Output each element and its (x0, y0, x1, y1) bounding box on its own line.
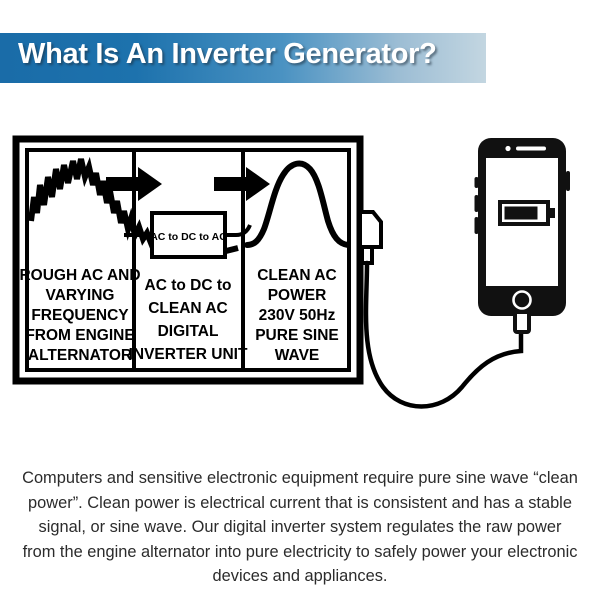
svg-text:230V 50Hz: 230V 50Hz (259, 307, 336, 324)
svg-text:ROUGH AC AND: ROUGH AC AND (19, 267, 140, 284)
svg-text:FREQUENCY: FREQUENCY (31, 307, 129, 324)
panel-2-label: AC to DC to CLEAN AC DIGITAL INVERTER UN… (129, 277, 248, 363)
svg-text:PURE SINE: PURE SINE (255, 327, 339, 344)
svg-text:FROM ENGINE: FROM ENGINE (25, 327, 134, 344)
battery-icon (500, 202, 555, 224)
diagram-svg: AC to DC to AC ROUGH AC AND VARYING FREQ… (0, 125, 600, 425)
cable-connector-icon (515, 312, 529, 332)
front-camera-icon (505, 146, 510, 151)
svg-text:CLEAN AC: CLEAN AC (257, 267, 337, 284)
smartphone (475, 138, 571, 332)
svg-text:WAVE: WAVE (275, 347, 320, 364)
inverter-box-label: AC to DC to AC (150, 231, 227, 243)
svg-text:ALTERNATOR: ALTERNATOR (28, 347, 132, 364)
home-button-icon (514, 292, 531, 309)
svg-text:CLEAN AC: CLEAN AC (148, 300, 228, 317)
page-title: What Is An Inverter Generator? (18, 38, 437, 71)
description-paragraph: Computers and sensitive electronic equip… (22, 466, 578, 589)
wall-plug-icon (360, 212, 381, 263)
earpiece-speaker-icon (516, 147, 546, 151)
panel-3-label: CLEAN AC POWER 230V 50Hz PURE SINE WAVE (255, 267, 339, 364)
svg-text:DIGITAL: DIGITAL (158, 323, 219, 340)
panel-1-label: ROUGH AC AND VARYING FREQUENCY FROM ENGI… (19, 267, 140, 364)
svg-text:POWER: POWER (268, 287, 327, 304)
svg-text:INVERTER UNIT: INVERTER UNIT (129, 346, 248, 363)
svg-text:VARYING: VARYING (46, 287, 115, 304)
inverter-diagram: AC to DC to AC ROUGH AC AND VARYING FREQ… (0, 125, 600, 425)
svg-text:AC to DC to: AC to DC to (145, 277, 232, 294)
pure-sine-wave-icon (247, 163, 348, 245)
